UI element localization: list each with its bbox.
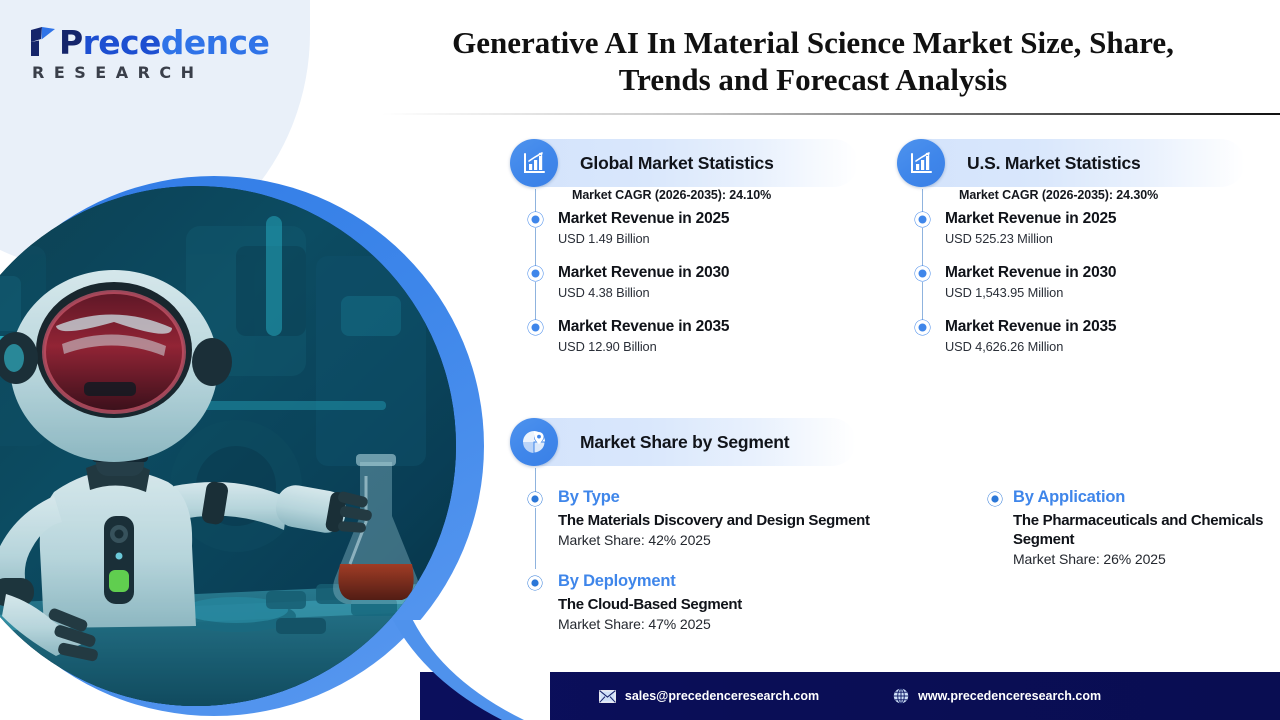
connector-rail	[922, 282, 923, 321]
envelope-icon	[599, 690, 616, 703]
segment-leader: The Cloud-Based Segment	[558, 595, 980, 614]
stat-row: Market Revenue in 2030 USD 4.38 Billion	[510, 263, 880, 317]
section-header-segment: Market Share by Segment	[510, 418, 856, 466]
stats-list-global: Market CAGR (2026-2035): 24.10% Market R…	[510, 188, 880, 371]
section-title-segment: Market Share by Segment	[580, 432, 789, 453]
bullet-dot-icon	[528, 492, 542, 506]
stat-row: Market Revenue in 2025 USD 525.23 Millio…	[897, 209, 1267, 263]
segment-row: By Type The Materials Discovery and Desi…	[510, 487, 980, 571]
stat-label: Market Revenue in 2030	[945, 263, 1267, 282]
infographic-page: Precedence RESEARCH Generative AI In Mat…	[0, 0, 1280, 720]
logo-subtitle: RESEARCH	[32, 63, 269, 82]
logo-word-part-2: rece	[83, 23, 161, 62]
logo-wordmark: Precedence	[59, 26, 269, 60]
segment-share: Market Share: 26% 2025	[1013, 551, 1275, 567]
segment-list-left: By Type The Materials Discovery and Desi…	[510, 487, 980, 655]
logo-word-part-3: dence	[161, 23, 269, 62]
segment-list-right: By Application The Pharmaceuticals and C…	[975, 487, 1275, 571]
footer-email-text: sales@precedenceresearch.com	[625, 689, 819, 703]
segment-leader: The Pharmaceuticals and Chemicals Segmen…	[1013, 511, 1275, 549]
stats-list-us: Market CAGR (2026-2035): 24.30% Market R…	[897, 188, 1267, 371]
segment-category: By Application	[1013, 487, 1275, 507]
segment-row: By Deployment The Cloud-Based Segment Ma…	[510, 571, 980, 655]
stat-row: Market Revenue in 2025 USD 1.49 Billion	[510, 209, 880, 263]
title-divider	[382, 113, 1280, 115]
section-header-us: U.S. Market Statistics	[897, 139, 1245, 187]
section-header-global: Global Market Statistics	[510, 139, 858, 187]
stat-value: USD 1,543.95 Million	[945, 285, 1267, 300]
bullet-dot-icon	[915, 320, 930, 335]
section-title-us: U.S. Market Statistics	[967, 153, 1141, 174]
stat-value: USD 12.90 Billion	[558, 339, 880, 354]
bullet-dot-icon	[915, 212, 930, 227]
logo-wordmark-row: Precedence	[28, 26, 269, 60]
bar-chart-growth-icon	[510, 139, 558, 187]
stat-value: USD 4.38 Billion	[558, 285, 880, 300]
bullet-dot-icon	[528, 212, 543, 227]
connector-rail	[535, 282, 536, 321]
logo-word-part-1: P	[59, 23, 83, 62]
precedence-research-logo: Precedence RESEARCH	[28, 26, 269, 82]
logo-mark-icon	[28, 25, 58, 57]
footer-bar: sales@precedenceresearch.com www.precede…	[420, 672, 1280, 720]
stat-label: Market Revenue in 2030	[558, 263, 880, 282]
cagr-global: Market CAGR (2026-2035): 24.10%	[572, 188, 880, 202]
stat-value: USD 525.23 Million	[945, 231, 1267, 246]
segment-row: By Application The Pharmaceuticals and C…	[975, 487, 1275, 571]
stat-value: USD 1.49 Billion	[558, 231, 880, 246]
segment-share: Market Share: 42% 2025	[558, 532, 980, 548]
footer-website-text: www.precedenceresearch.com	[918, 689, 1101, 703]
cagr-us: Market CAGR (2026-2035): 24.30%	[959, 188, 1267, 202]
stat-value: USD 4,626.26 Million	[945, 339, 1267, 354]
bullet-dot-icon	[528, 266, 543, 281]
segment-category: By Deployment	[558, 571, 980, 591]
stat-row: Market Revenue in 2035 USD 4,626.26 Mill…	[897, 317, 1267, 371]
connector-rail	[535, 508, 536, 569]
segment-share: Market Share: 47% 2025	[558, 616, 980, 632]
stat-label: Market Revenue in 2025	[558, 209, 880, 228]
stat-row: Market Revenue in 2035 USD 12.90 Billion	[510, 317, 880, 371]
pie-chart-pin-icon	[510, 418, 558, 466]
connector-rail	[922, 228, 923, 267]
bar-chart-growth-icon	[897, 139, 945, 187]
footer-email[interactable]: sales@precedenceresearch.com	[599, 689, 819, 703]
segment-leader: The Materials Discovery and Design Segme…	[558, 511, 980, 530]
connector-rail	[535, 228, 536, 267]
stat-label: Market Revenue in 2035	[945, 317, 1267, 336]
stat-label: Market Revenue in 2035	[558, 317, 880, 336]
stat-row: Market Revenue in 2030 USD 1,543.95 Mill…	[897, 263, 1267, 317]
segment-category: By Type	[558, 487, 980, 507]
footer-website[interactable]: www.precedenceresearch.com	[893, 688, 1101, 704]
stat-label: Market Revenue in 2025	[945, 209, 1267, 228]
bullet-dot-icon	[988, 492, 1002, 506]
bullet-dot-icon	[528, 576, 542, 590]
page-title: Generative AI In Material Science Market…	[404, 24, 1222, 98]
bullet-dot-icon	[915, 266, 930, 281]
bullet-dot-icon	[528, 320, 543, 335]
globe-icon	[893, 688, 909, 704]
section-title-global: Global Market Statistics	[580, 153, 774, 174]
